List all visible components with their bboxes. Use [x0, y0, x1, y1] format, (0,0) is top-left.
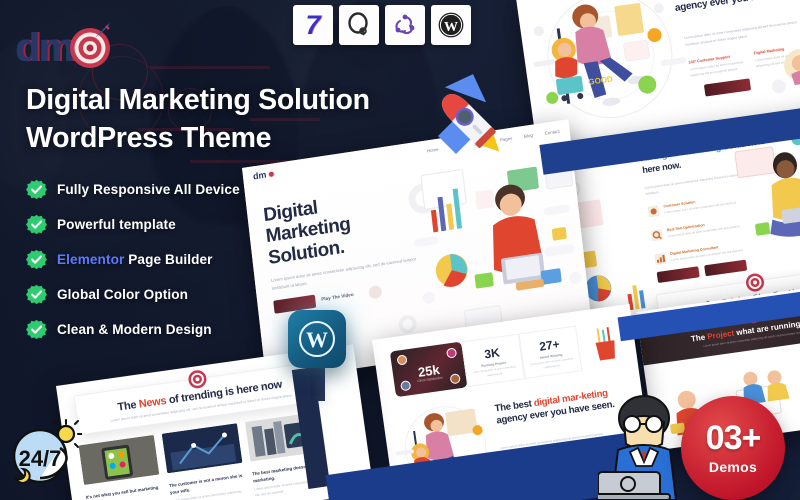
news-title: It's not what you sell but marketing you…: [85, 484, 162, 500]
demos-circle: 03+ Demos: [681, 396, 785, 500]
mockup-heading: Digital Marketing Solution.: [262, 193, 354, 269]
feature-item-color: Global Color Option: [26, 281, 240, 307]
feature-item-responsive: Fully Responsive All Device: [26, 176, 240, 202]
stat-number: 3K: [483, 345, 500, 361]
feature-label: Clean & Modern Design: [57, 322, 212, 337]
svg-text:W: W: [306, 327, 328, 352]
feature-item-template: Powerful template: [26, 211, 240, 237]
stat-card-award-winning: 27+ Award Winning Lorem ipsum dolor sit …: [519, 325, 583, 379]
check-badge-icon: [26, 249, 47, 270]
pencil-cup-icon: [589, 326, 623, 364]
news-thumbnail: [78, 435, 159, 485]
support-247-label: 24/7: [19, 446, 62, 471]
feature-accent: Elementor: [57, 252, 124, 267]
page-title: Digital Marketing Solution WordPress The…: [26, 82, 446, 158]
check-badge-icon: [26, 214, 47, 235]
avatar: [450, 373, 461, 384]
query-icon: [346, 12, 372, 38]
wordpress-icon: W: [297, 319, 337, 359]
avatar: [400, 380, 411, 391]
wordpress-badge-stand: [311, 365, 325, 401]
demos-number: 03+: [706, 421, 761, 455]
headline-line-1: Digital Marketing Solution: [26, 82, 446, 120]
stats-row: 25k Client Satisfaction 3K Running Proje…: [390, 325, 583, 397]
elementor-icon: 7: [305, 12, 320, 39]
svg-text:W: W: [444, 20, 458, 35]
agency-read-more-button[interactable]: [704, 78, 751, 96]
rocket-icon: [424, 62, 528, 166]
stat-desc: Lorem ipsum dolor sit amet consectetur a…: [470, 365, 519, 381]
mockup-play-video-label[interactable]: Play The Video: [321, 292, 354, 302]
stat-card-running-project: 3K Running Project Lorem ipsum dolor sit…: [461, 334, 525, 388]
mockup-play-icon[interactable]: [368, 285, 382, 300]
mockup-logo-target-icon: [267, 170, 275, 178]
feature-item-elementor: Elementor Page Builder: [26, 246, 240, 272]
feature-rest: Page Builder: [124, 252, 212, 267]
wordpress-icon: W: [437, 11, 465, 39]
news-target-icon: [186, 368, 209, 391]
agency-paragraph: Lorem ipsum dolor sit amet consectetur a…: [684, 18, 800, 48]
support-247-badge: 24/7: [6, 414, 82, 490]
stat-number: 27+: [538, 337, 560, 354]
feature-item-design: Clean & Modern Design: [26, 316, 240, 342]
redux-badge[interactable]: [385, 5, 425, 45]
check-badge-icon: [26, 179, 47, 200]
poster-stage: GOOD The best digital mar-keting agency …: [0, 0, 800, 500]
solution-get-started-button[interactable]: [657, 266, 700, 283]
news-thumbnail: [162, 423, 243, 473]
demos-count-badge: 03+ Demos: [681, 396, 785, 500]
redux-icon: [392, 12, 418, 38]
agency-avatar-decoration: [763, 40, 800, 98]
stat-desc: Lorem ipsum dolor sit amet consectetur a…: [528, 357, 577, 373]
feature-label: Elementor Page Builder: [57, 252, 213, 267]
avatar: [446, 347, 457, 358]
avatar: [396, 354, 407, 365]
target-dartboard-icon: [70, 28, 110, 68]
wordpress-floating-badge[interactable]: W: [288, 310, 346, 368]
feature-list: Fully Responsive All Device Powerful tem…: [26, 176, 240, 351]
pricing-target-icon: [744, 271, 767, 294]
demos-label: Demos: [709, 459, 757, 475]
feature-label: Powerful template: [57, 217, 176, 232]
query-loop-badge[interactable]: [339, 5, 379, 45]
agency-heading: The best digital mar-keting agency ever …: [672, 0, 800, 15]
check-badge-icon: [26, 319, 47, 340]
feature-label: Global Color Option: [57, 287, 188, 302]
headline-line-2: WordPress Theme: [26, 120, 446, 158]
elementor-badge[interactable]: 7: [293, 5, 333, 45]
agency-col-1: 24/7 Customer Support Lorem ipsum dolor …: [688, 53, 748, 80]
list-item[interactable]: The customer is not a moron she is your …: [162, 423, 248, 500]
svg-text:GOOD: GOOD: [588, 74, 614, 86]
nav-contact[interactable]: Contact: [544, 128, 560, 135]
brand-logo-text: dm: [16, 28, 74, 68]
check-badge-icon: [26, 284, 47, 305]
mockup-logo[interactable]: dm: [252, 168, 274, 181]
wordpress-badge[interactable]: W: [431, 5, 471, 45]
brand-logo[interactable]: dm: [16, 28, 110, 68]
stat-card-client-satisfaction: 25k Client Satisfaction: [390, 342, 468, 398]
list-item[interactable]: It's not what you sell but marketing you…: [78, 435, 164, 500]
plugin-badge-row: 7 W: [293, 5, 471, 45]
feature-label: Fully Responsive All Device: [57, 182, 240, 197]
solution-learn-more-button[interactable]: [704, 260, 747, 277]
